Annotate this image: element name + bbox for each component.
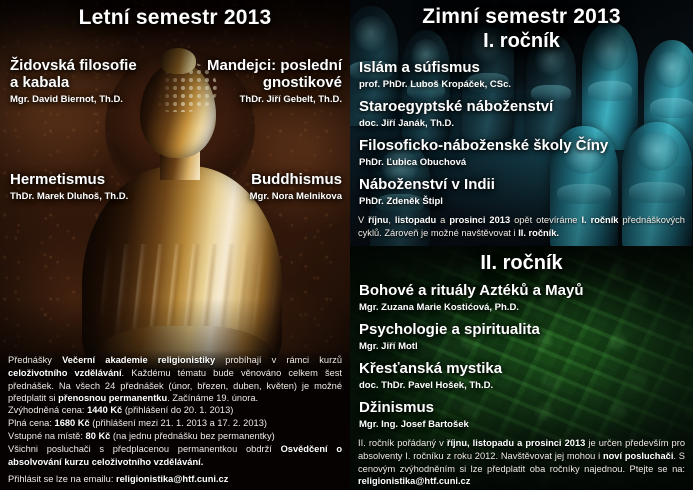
course-lecturer: doc. ThDr. Pavel Hošek, Th.D. bbox=[359, 380, 689, 392]
course-bohove-a-ritualy-azteku-a-mayu: Bohové a rituály Aztéků a Mayů Mgr. Zuza… bbox=[359, 283, 689, 314]
course-lecturer: prof. PhDr. Luboš Kropáček, CSc. bbox=[359, 79, 689, 91]
course-lecturer: Mgr. Jiří Motl bbox=[359, 341, 689, 353]
year1-heading: I. ročník bbox=[350, 30, 693, 53]
course-staroegyptske-nabozenstvi: Staroegyptské náboženství doc. Jiří Janá… bbox=[359, 99, 689, 130]
course-name: Psychologie a spiritualita bbox=[359, 322, 689, 339]
course-lecturer: doc. Jiří Janák, Th.D. bbox=[359, 118, 689, 130]
right-panel-text-layer: Zimní semestr 2013 I. ročník Islám a súf… bbox=[350, 0, 693, 490]
left-panel-summer-semester: Letní semestr 2013 Židovská filosofiea k… bbox=[0, 0, 350, 490]
course-lecturer: PhDr. Ľubica Obuchová bbox=[359, 157, 693, 169]
course-lecturer: Mgr. Nora Melnikova bbox=[157, 191, 342, 203]
course-islam-a-sufismus: Islám a súfismus prof. PhDr. Luboš Kropá… bbox=[359, 60, 689, 91]
poster-root: Letní semestr 2013 Židovská filosofiea k… bbox=[0, 0, 693, 490]
certificate-note: Všichni posluchači s předplacenou perman… bbox=[8, 443, 342, 469]
price-information: Zvýhodněná cena: 1440 Kč (přihlášení do … bbox=[8, 404, 342, 444]
left-panel-contact[interactable]: Přihlásit se lze na emailu: religionisti… bbox=[8, 473, 342, 486]
course-name: Křesťanská mystika bbox=[359, 361, 689, 378]
course-lecturer: Mgr. Ing. Josef Bartošek bbox=[359, 419, 689, 431]
course-buddhismus: Buddhismus Mgr. Nora Melnikova bbox=[157, 172, 342, 203]
course-name: Staroegyptské náboženství bbox=[359, 99, 689, 116]
course-name: Džinismus bbox=[359, 400, 689, 417]
left-panel-description: Přednášky Večerní akademie religionistik… bbox=[8, 354, 342, 405]
course-name: Bohové a rituály Aztéků a Mayů bbox=[359, 283, 689, 300]
course-lecturer: ThDr. Jiří Gebelt, Th.D. bbox=[152, 94, 342, 106]
course-dzinismus: Džinismus Mgr. Ing. Josef Bartošek bbox=[359, 400, 689, 431]
course-name: Buddhismus bbox=[157, 172, 342, 189]
course-psychologie-a-spiritualita: Psychologie a spiritualita Mgr. Jiří Mot… bbox=[359, 322, 689, 353]
course-name: Filosoficko-náboženské školy Číny bbox=[359, 138, 693, 155]
course-lecturer: PhDr. Zdeněk Štipl bbox=[359, 196, 689, 208]
right-panel-winter-semester: Zimní semestr 2013 I. ročník Islám a súf… bbox=[350, 0, 693, 490]
course-name: Náboženství v Indii bbox=[359, 177, 689, 194]
course-name: Mandejci: poslednígnostikové bbox=[152, 58, 342, 92]
course-nabozenstvi-v-indii: Náboženství v Indii PhDr. Zdeněk Štipl bbox=[359, 177, 689, 208]
course-lecturer: Mgr. Zuzana Marie Kostićová, Ph.D. bbox=[359, 302, 689, 314]
left-panel-text-layer: Letní semestr 2013 Židovská filosofiea k… bbox=[0, 0, 350, 490]
year2-note: II. ročník pořádaný v říjnu, listopadu a… bbox=[358, 437, 685, 488]
course-krestanska-mystika: Křesťanská mystika doc. ThDr. Pavel Hoše… bbox=[359, 361, 689, 392]
year1-note: V říjnu, listopadu a prosinci 2013 opět … bbox=[358, 214, 685, 240]
course-mandejci-posledni-gnostikove: Mandejci: poslednígnostikové ThDr. Jiří … bbox=[152, 58, 342, 105]
course-filosoficko-nabozenske-skoly-ciny: Filosoficko-náboženské školy Číny PhDr. … bbox=[359, 138, 693, 169]
course-name: Islám a súfismus bbox=[359, 60, 689, 77]
right-panel-title: Zimní semestr 2013 bbox=[350, 5, 693, 29]
year2-heading: II. ročník bbox=[350, 252, 693, 275]
left-panel-title: Letní semestr 2013 bbox=[0, 6, 350, 30]
